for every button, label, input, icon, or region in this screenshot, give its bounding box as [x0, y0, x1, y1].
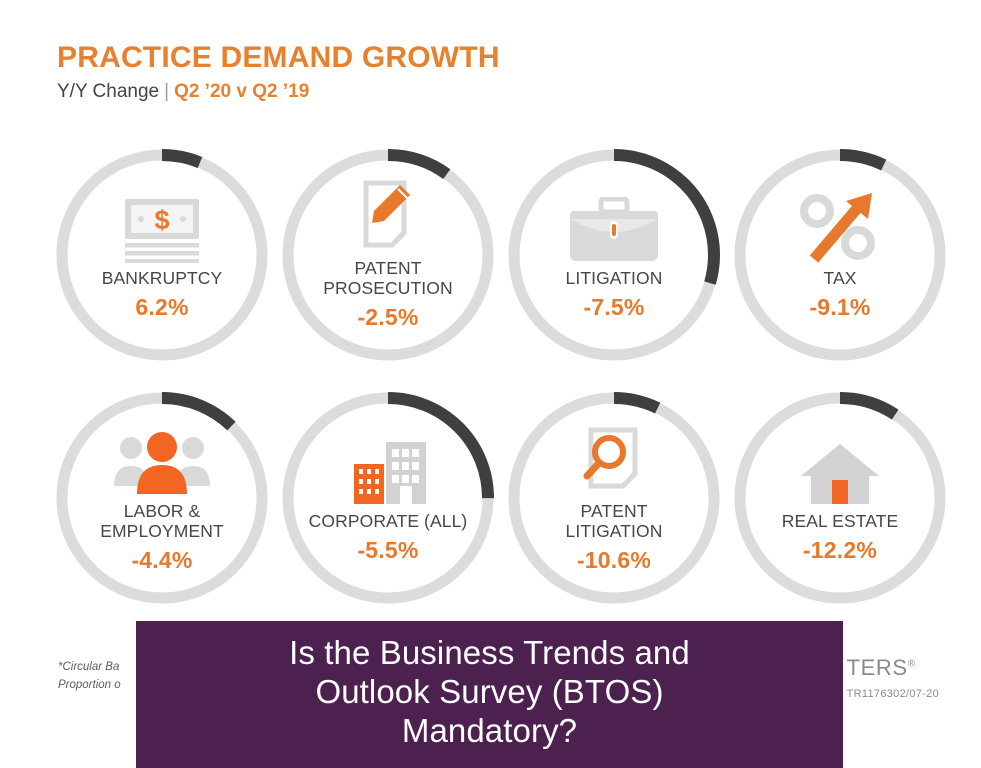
metric-card-tax: TAX -9.1% [723, 143, 949, 386]
brand-block: TERS® TR1176302/07-20 [847, 655, 939, 700]
donut-gauge-bankruptcy [53, 146, 271, 364]
caption-overlay: Is the Business Trends and Outlook Surve… [136, 621, 843, 768]
caption-line-3: Mandatory? [402, 712, 577, 749]
caption-line-2: Outlook Survey (BTOS) [315, 673, 663, 710]
registered-mark-icon: ® [908, 659, 916, 670]
subtitle-comparison: Q2 ’20 v Q2 ’19 [174, 81, 309, 102]
donut-gauge-real-estate [731, 389, 949, 607]
metric-card-corporate-all: CORPORATE (ALL) -5.5% [271, 386, 497, 629]
donut-gauge-labor-employment [53, 389, 271, 607]
practice-demand-grid: $ BANKRUPTCY 6.2% [45, 143, 950, 629]
brand-name-text: TERS [847, 655, 908, 680]
subtitle-period-label: Y/Y Change [57, 81, 159, 102]
metric-card-labor-employment: LABOR & EMPLOYMENT -4.4% [45, 386, 271, 629]
chart-footnote: *Circular Ba Proportion o [58, 659, 121, 695]
donut-gauge-patent-litigation [505, 389, 723, 607]
footnote-line-1: *Circular Ba [58, 659, 121, 677]
donut-gauge-tax [731, 146, 949, 364]
metric-card-bankruptcy: $ BANKRUPTCY 6.2% [45, 143, 271, 386]
page-title: PRACTICE DEMAND GROWTH [57, 42, 757, 74]
subtitle-divider: | [159, 81, 174, 102]
donut-gauge-patent-prosecution [279, 146, 497, 364]
donut-gauge-corporate-all [279, 389, 497, 607]
caption-text: Is the Business Trends and Outlook Surve… [289, 634, 690, 751]
footnote-line-2: Proportion o [58, 677, 121, 695]
caption-line-1: Is the Business Trends and [289, 634, 690, 671]
brand-document-code: TR1176302/07-20 [847, 688, 939, 700]
donut-gauge-litigation [505, 146, 723, 364]
page-subtitle: Y/Y Change|Q2 ’20 v Q2 ’19 [57, 81, 757, 104]
page-header: PRACTICE DEMAND GROWTH Y/Y Change|Q2 ’20… [57, 42, 757, 103]
metric-card-patent-prosecution: PATENT PROSECUTION -2.5% [271, 143, 497, 386]
metric-card-patent-litigation: PATENT LITIGATION -10.6% [497, 386, 723, 629]
brand-logo-text: TERS® [847, 655, 939, 681]
metric-card-litigation: LITIGATION -7.5% [497, 143, 723, 386]
metric-card-real-estate: REAL ESTATE -12.2% [723, 386, 949, 629]
